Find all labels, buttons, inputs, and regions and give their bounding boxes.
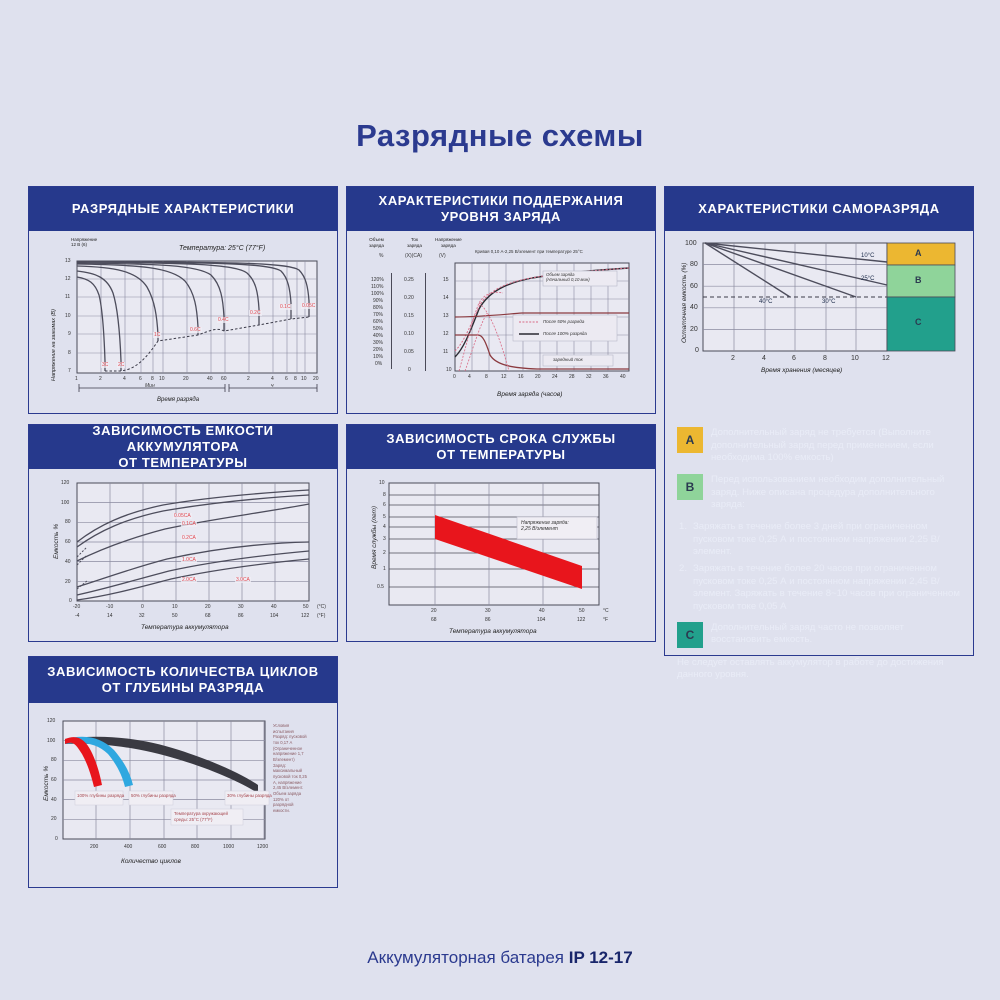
- cap-xtick-f-104: 104: [270, 613, 278, 619]
- float-cur-005: 0.05: [404, 349, 414, 355]
- cycles-ambient-note: Температура окружающей среды: 25°C (77°F…: [174, 811, 242, 822]
- panel-float-body: Объем заряда % Ток заряда (X)(CA) Напряж…: [347, 231, 655, 413]
- discharge-seg-min: Мин: [145, 383, 155, 389]
- self-discharge-legend: A Дополнительный заряд не требуется (Вып…: [677, 427, 963, 682]
- discharge-ytick-10: 10: [65, 313, 71, 319]
- self-discharge-plot: [665, 231, 975, 421]
- discharge-ytick-8: 8: [68, 350, 71, 356]
- float-x-24: 24: [552, 374, 558, 380]
- float-v-12: 12: [443, 331, 449, 337]
- legend-text-c: Дополнительный заряд часто не позволяет …: [711, 622, 963, 647]
- legend-row-a: A Дополнительный заряд не требуется (Вып…: [677, 427, 963, 465]
- cyc-ytick-80: 80: [51, 757, 57, 763]
- cycles-label-50: 50% глубины разряда: [131, 793, 173, 799]
- life-xtick-c-30: 30: [485, 608, 491, 614]
- cycles-label-100: 100% глубины разряда: [77, 793, 123, 799]
- cap-xtick-c-10: 10: [172, 604, 178, 610]
- float-x-0: 0: [453, 374, 456, 380]
- panel-discharge-characteristics: РАЗРЯДНЫЕ ХАРАКТЕРИСТИКИ Напряжение 12 В…: [28, 186, 338, 414]
- discharge-xtick-8: 8: [151, 376, 154, 382]
- float-cur-0: 0: [408, 367, 411, 373]
- life-ytick-05: 0.5: [377, 584, 384, 590]
- footer-prefix: Аккумуляторная батарея: [367, 948, 568, 967]
- float-x-36: 36: [603, 374, 609, 380]
- cyc-xtick-800: 800: [191, 844, 199, 850]
- float-vol-100: 100%: [371, 291, 384, 297]
- float-vol-80: 80%: [373, 305, 383, 311]
- float-vol-20: 20%: [373, 347, 383, 353]
- swatch-a: A: [677, 427, 703, 453]
- float-x-8: 8: [485, 374, 488, 380]
- legend-text-b: Перед использованием необходим дополните…: [711, 474, 963, 512]
- self-xtick-2: 2: [731, 355, 735, 362]
- float-current-label: зарядный ток: [553, 357, 583, 362]
- discharge-xtick-h4: 4: [271, 376, 274, 382]
- discharge-x-axis-label: Время разряда: [157, 397, 199, 403]
- cap-ytick-60: 60: [65, 539, 71, 545]
- cycles-y-axis-label: Емкость %: [43, 766, 50, 801]
- panel-capacity-body: 0.05CA 0.1CA 0.2CA 1.0CA 2.0CA 3.0CA 120…: [29, 469, 337, 641]
- float-vol-40: 40%: [373, 333, 383, 339]
- cap-ytick-20: 20: [65, 579, 71, 585]
- discharge-xtick-10: 10: [159, 376, 165, 382]
- zone-letter-c: C: [915, 317, 922, 327]
- float-axis2-line: [425, 273, 426, 371]
- legend-row-c: C Дополнительный заряд часто не позволяе…: [677, 622, 963, 648]
- life-x-unit-c: °C: [603, 608, 609, 614]
- capacity-label-01ca: 0.1CA: [181, 521, 197, 527]
- page-footer: Аккумуляторная батарея IP 12-17: [0, 948, 1000, 968]
- float-x-20: 20: [535, 374, 541, 380]
- discharge-label-3c: 3C: [101, 362, 109, 368]
- cap-xtick-f-50: 50: [172, 613, 178, 619]
- legend-step-2-text: Заряжать в течение более 20 часов при ог…: [693, 563, 963, 614]
- cap-ytick-100: 100: [61, 500, 69, 506]
- float-v-10: 10: [446, 367, 452, 373]
- panel-life-temperature: ЗАВИСИМОСТЬ СРОКА СЛУЖБЫ ОТ ТЕМПЕРАТУРЫ …: [346, 424, 656, 642]
- float-vol-90: 90%: [373, 298, 383, 304]
- cyc-xtick-400: 400: [124, 844, 132, 850]
- float-axis1-line: [391, 273, 392, 369]
- panel-capacity-temperature: ЗАВИСИМОСТЬ ЕМКОСТИ АККУМУЛЯТОРА ОТ ТЕМП…: [28, 424, 338, 642]
- self-ytick-100: 100: [685, 240, 697, 247]
- self-x-axis-label: Время хранения (месяцев): [761, 367, 842, 374]
- discharge-label-04c: 0.4C: [217, 317, 230, 323]
- discharge-xtick-h6: 6: [285, 376, 288, 382]
- footer-model: IP 12-17: [569, 948, 633, 967]
- discharge-xtick-4: 4: [123, 376, 126, 382]
- zone-letter-b: B: [915, 275, 922, 285]
- life-x-unit-f: °F: [603, 617, 608, 623]
- life-xtick-f-68: 68: [431, 617, 437, 623]
- self-xtick-4: 4: [762, 355, 766, 362]
- cap-ytick-80: 80: [65, 519, 71, 525]
- discharge-ytick-13: 13: [65, 258, 71, 264]
- life-xtick-f-104: 104: [537, 617, 545, 623]
- float-vol-110: 110%: [371, 284, 383, 290]
- cap-xtick-c--10: -10: [106, 604, 113, 610]
- float-vol-60: 60%: [373, 319, 383, 325]
- float-v-11: 11: [443, 349, 448, 355]
- float-v-15: 15: [443, 277, 449, 283]
- discharge-ytick-9: 9: [68, 331, 71, 337]
- float-cur-025: 0.25: [404, 277, 414, 283]
- self-label-40c: 40°C: [759, 299, 772, 305]
- panel-discharge-title: РАЗРЯДНЫЕ ХАРАКТЕРИСТИКИ: [29, 187, 337, 231]
- cap-ytick-40: 40: [65, 559, 71, 565]
- discharge-label-02c: 0.2C: [249, 310, 262, 316]
- float-plot: [347, 231, 657, 413]
- life-ytick-10: 10: [379, 480, 385, 486]
- discharge-ytick-12: 12: [65, 276, 71, 282]
- cap-xtick-c-0: 0: [141, 604, 144, 610]
- cycles-conditions: Условия испытания Разряд: пусковой ток 0…: [273, 723, 327, 814]
- cap-ytick-0: 0: [69, 598, 72, 604]
- life-xtick-c-50: 50: [579, 608, 585, 614]
- float-x-12: 12: [501, 374, 507, 380]
- life-ytick-2: 2: [383, 550, 386, 556]
- cap-xtick-f-32: 32: [139, 613, 145, 619]
- panel-selfdischarge-body: A B C 10°C 25°C 30°C 40°C 100 80 60 40 2…: [665, 231, 973, 655]
- capacity-label-02ca: 0.2CA: [181, 535, 197, 541]
- discharge-label-06c: 0.6C: [189, 327, 202, 333]
- self-ytick-80: 80: [690, 261, 698, 268]
- float-cur-010: 0.10: [404, 331, 414, 337]
- life-xtick-c-40: 40: [539, 608, 545, 614]
- cap-xtick-c-50: 50: [303, 604, 309, 610]
- discharge-xtick-h2: 2: [247, 376, 250, 382]
- float-callout: Объем заряда (Начальный 0,10 мин): [546, 272, 590, 282]
- self-label-10c: 10°C: [861, 253, 874, 259]
- cyc-ytick-0: 0: [55, 836, 58, 842]
- cyc-xtick-1200: 1200: [257, 844, 268, 850]
- life-xtick-f-86: 86: [485, 617, 491, 623]
- discharge-xtick-6: 6: [139, 376, 142, 382]
- cap-xtick-f-86: 86: [238, 613, 244, 619]
- cap-xtick-f-14: 14: [107, 613, 113, 619]
- float-legend-100: После 100% разряда: [543, 331, 587, 336]
- cap-xtick-c--20: -20: [73, 604, 80, 610]
- legend-step-2: 2. Заряжать в течение более 20 часов при…: [679, 563, 963, 614]
- cap-xtick-c-30: 30: [238, 604, 244, 610]
- float-vol-10: 10%: [373, 354, 383, 360]
- capacity-label-20ca: 2.0CA: [181, 577, 197, 583]
- float-x-40: 40: [620, 374, 626, 380]
- legend-row-b: B Перед использованием необходим дополни…: [677, 474, 963, 512]
- life-x-axis-label: Температура аккумулятора: [449, 628, 537, 635]
- discharge-xtick-2: 2: [99, 376, 102, 382]
- cyc-ytick-40: 40: [51, 797, 57, 803]
- panel-discharge-body: Напряжение 12 В (6) Температура: 25°C (7…: [29, 231, 337, 413]
- life-ytick-1: 1: [383, 566, 386, 572]
- life-ytick-3: 3: [383, 536, 386, 542]
- float-cur-015: 0.15: [404, 313, 414, 319]
- discharge-xtick-60: 60: [221, 376, 227, 382]
- zone-letter-a: A: [915, 248, 922, 258]
- self-ytick-60: 60: [690, 283, 698, 290]
- life-ytick-8: 8: [383, 492, 386, 498]
- cap-xtick-f-122: 122: [301, 613, 309, 619]
- discharge-label-01c: 0.1C: [279, 304, 292, 310]
- float-x-32: 32: [586, 374, 592, 380]
- cap-xtick-c-20: 20: [205, 604, 211, 610]
- panel-selfdischarge-title: ХАРАКТЕРИСТИКИ САМОРАЗРЯДА: [665, 187, 973, 231]
- self-ytick-20: 20: [690, 326, 698, 333]
- cycles-x-axis-label: Количество циклов: [121, 858, 181, 865]
- panel-life-body: Напряжение заряда: 2,25 В/элемент 10 8 6…: [347, 469, 655, 641]
- float-v-14: 14: [443, 295, 449, 301]
- self-xtick-6: 6: [792, 355, 796, 362]
- cap-xtick-f-68: 68: [205, 613, 211, 619]
- cyc-ytick-20: 20: [51, 816, 57, 822]
- life-temp-plot: [347, 469, 657, 641]
- life-ytick-5: 5: [383, 514, 386, 520]
- panel-cycles-title: ЗАВИСИМОСТЬ КОЛИЧЕСТВА ЦИКЛОВ ОТ ГЛУБИНЫ…: [29, 657, 337, 703]
- life-xtick-c-20: 20: [431, 608, 437, 614]
- swatch-c: C: [677, 622, 703, 648]
- float-x-16: 16: [518, 374, 524, 380]
- capacity-label-30ca: 3.0CA: [235, 577, 251, 583]
- float-vol-70: 70%: [373, 312, 383, 318]
- discharge-xtick-20: 20: [183, 376, 189, 382]
- cap-ytick-120: 120: [61, 480, 69, 486]
- panel-self-discharge: ХАРАКТЕРИСТИКИ САМОРАЗРЯДА: [664, 186, 974, 656]
- discharge-plot: [29, 231, 339, 413]
- panel-float-title: ХАРАКТЕРИСТИКИ ПОДДЕРЖАНИЯ УРОВНЯ ЗАРЯДА: [347, 187, 655, 231]
- discharge-xtick-1: 1: [75, 376, 78, 382]
- self-label-25c: 25°C: [861, 276, 874, 282]
- legend-steps: 1. Заряжать в течение более 3 дней при о…: [679, 521, 963, 614]
- discharge-xtick-h8: 8: [294, 376, 297, 382]
- discharge-label-1c: 1C: [153, 332, 161, 338]
- discharge-label-005c: 0.05C: [301, 303, 316, 309]
- cyc-ytick-100: 100: [47, 738, 55, 744]
- float-x-4: 4: [468, 374, 471, 380]
- self-label-30c: 30°C: [822, 299, 835, 305]
- float-vol-30: 30%: [373, 340, 383, 346]
- life-ytick-6: 6: [383, 502, 386, 508]
- panel-float-charge: ХАРАКТЕРИСТИКИ ПОДДЕРЖАНИЯ УРОВНЯ ЗАРЯДА…: [346, 186, 656, 414]
- life-ytick-4: 4: [383, 524, 386, 530]
- self-ytick-40: 40: [690, 304, 698, 311]
- cap-xtick-c-40: 40: [271, 604, 277, 610]
- discharge-ytick-7: 7: [68, 368, 71, 374]
- capacity-y-axis-label: Емкость %: [53, 524, 60, 559]
- cyc-ytick-120: 120: [47, 718, 55, 724]
- discharge-label-2c: 2C: [117, 362, 125, 368]
- legend-step-1-num: 1.: [679, 521, 689, 559]
- legend-tail: Не следует оставлять аккумулятор в работ…: [677, 657, 963, 682]
- capacity-label-10ca: 1.0CA: [181, 557, 197, 563]
- panel-cycles-dod: ЗАВИСИМОСТЬ КОЛИЧЕСТВА ЦИКЛОВ ОТ ГЛУБИНЫ…: [28, 656, 338, 888]
- cyc-ytick-60: 60: [51, 777, 57, 783]
- legend-text-a: Дополнительный заряд не требуется (Выпол…: [711, 427, 963, 465]
- panel-capacity-title: ЗАВИСИМОСТЬ ЕМКОСТИ АККУМУЛЯТОРА ОТ ТЕМП…: [29, 425, 337, 469]
- legend-step-1: 1. Заряжать в течение более 3 дней при о…: [679, 521, 963, 559]
- self-xtick-8: 8: [823, 355, 827, 362]
- legend-step-1-text: Заряжать в течение более 3 дней при огра…: [693, 521, 963, 559]
- cyc-xtick-1000: 1000: [223, 844, 234, 850]
- discharge-xtick-h10: 10: [301, 376, 307, 382]
- discharge-xtick-h20: 20: [313, 376, 319, 382]
- discharge-xtick-40: 40: [207, 376, 213, 382]
- discharge-seg-hour: ч: [271, 383, 274, 389]
- float-legend-50: После 50% разряда: [543, 319, 584, 324]
- float-cur-020: 0.20: [404, 295, 414, 301]
- discharge-ytick-11: 11: [65, 294, 70, 300]
- life-note: Напряжение заряда: 2,25 В/элемент: [521, 520, 569, 532]
- float-vol-50: 50%: [373, 326, 383, 332]
- cap-xtick-f--4: -4: [75, 613, 79, 619]
- cyc-xtick-600: 600: [158, 844, 166, 850]
- panel-cycles-body: 100% глубины разряда 50% глубины разряда…: [29, 703, 337, 887]
- float-vol-120: 120%: [371, 277, 384, 283]
- float-x-axis-label: Время заряда (часов): [497, 391, 562, 398]
- self-ytick-0: 0: [695, 347, 699, 354]
- capacity-x-axis-label: Температура аккумулятора: [141, 624, 229, 631]
- swatch-b: B: [677, 474, 703, 500]
- float-x-28: 28: [569, 374, 575, 380]
- float-v-13: 13: [443, 313, 449, 319]
- self-xtick-10: 10: [851, 355, 859, 362]
- cap-x-unit-f: (°F): [317, 613, 325, 619]
- panel-life-title: ЗАВИСИМОСТЬ СРОКА СЛУЖБЫ ОТ ТЕМПЕРАТУРЫ: [347, 425, 655, 469]
- cap-x-unit-c: (°C): [317, 604, 326, 610]
- page-title: Разрядные схемы: [0, 118, 1000, 154]
- legend-step-2-num: 2.: [679, 563, 689, 614]
- capacity-label-005ca: 0.05CA: [173, 513, 192, 519]
- float-vol-0: 0%: [375, 361, 382, 367]
- cycles-label-30: 30% глубины разряда: [227, 793, 269, 799]
- self-xtick-12: 12: [882, 355, 890, 362]
- life-xtick-f-122: 122: [577, 617, 585, 623]
- life-y-axis-label: Время службы (лет): [371, 506, 378, 569]
- self-y-axis-label: Остаточная емкость (%): [681, 263, 688, 343]
- cyc-xtick-200: 200: [90, 844, 98, 850]
